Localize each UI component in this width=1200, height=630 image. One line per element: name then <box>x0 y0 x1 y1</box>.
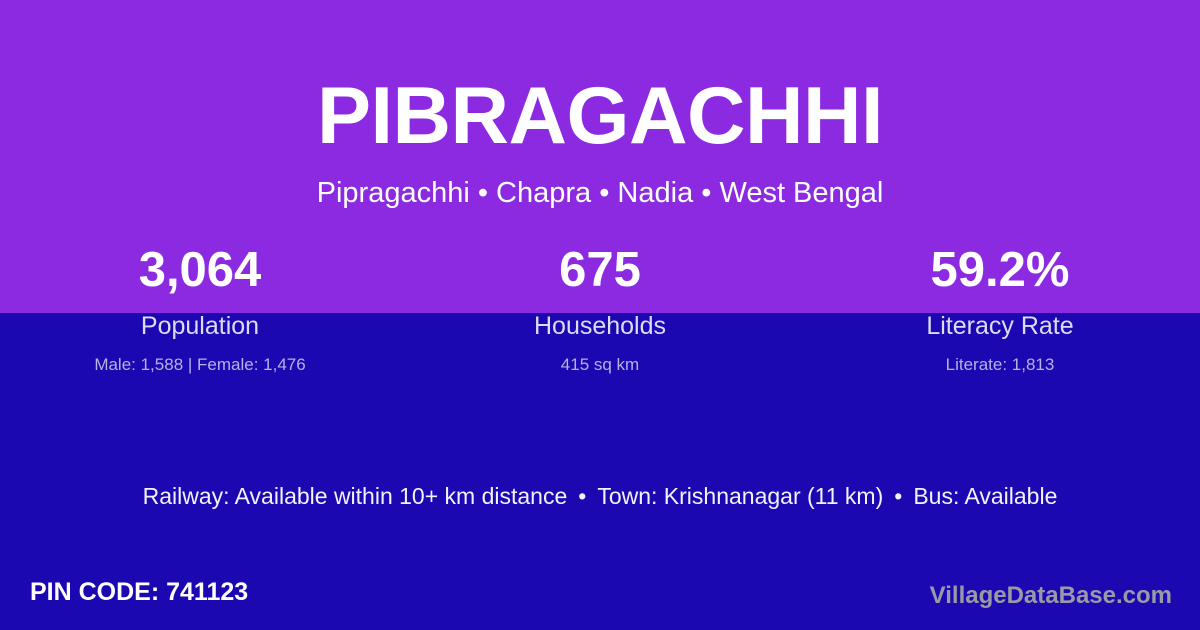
stat-value: 3,064 <box>0 246 400 295</box>
pin-code: PIN CODE: 741123 <box>30 580 248 605</box>
header: PIBRAGACHHI Pipragachhi • Chapra • Nadia… <box>0 0 1200 208</box>
infra-separator-icon: • <box>567 485 597 508</box>
village-info-card: PIBRAGACHHI Pipragachhi • Chapra • Nadia… <box>0 0 1200 630</box>
stat-sublabel: 415 sq km <box>400 356 800 373</box>
stat-label: Households <box>400 314 800 339</box>
stat-sublabel: Literate: 1,813 <box>800 356 1200 373</box>
infra-bus: Bus: Available <box>913 483 1057 509</box>
stat-value: 59.2% <box>800 246 1200 295</box>
stat-label: Population <box>0 314 400 339</box>
stat-literacy-rate: 59.2% Literacy Rate Literate: 1,813 <box>800 246 1200 373</box>
stat-sublabel: Male: 1,588 | Female: 1,476 <box>0 356 400 373</box>
infrastructure-summary: Railway: Available within 10+ km distanc… <box>0 485 1200 508</box>
footer: PIN CODE: 741123 VillageDataBase.com <box>0 576 1200 630</box>
infra-town: Town: Krishnanagar (11 km) <box>597 483 883 509</box>
stat-value: 675 <box>400 246 800 295</box>
brand-watermark: VillageDataBase.com <box>930 584 1172 608</box>
stats-row: 3,064 Population Male: 1,588 | Female: 1… <box>0 246 1200 373</box>
page-title: PIBRAGACHHI <box>0 0 1200 157</box>
stat-label: Literacy Rate <box>800 314 1200 339</box>
infra-railway: Railway: Available within 10+ km distanc… <box>143 483 568 509</box>
infra-separator-icon: • <box>883 485 913 508</box>
stat-population: 3,064 Population Male: 1,588 | Female: 1… <box>0 246 400 373</box>
breadcrumb: Pipragachhi • Chapra • Nadia • West Beng… <box>0 157 1200 208</box>
stat-households: 675 Households 415 sq km <box>400 246 800 373</box>
